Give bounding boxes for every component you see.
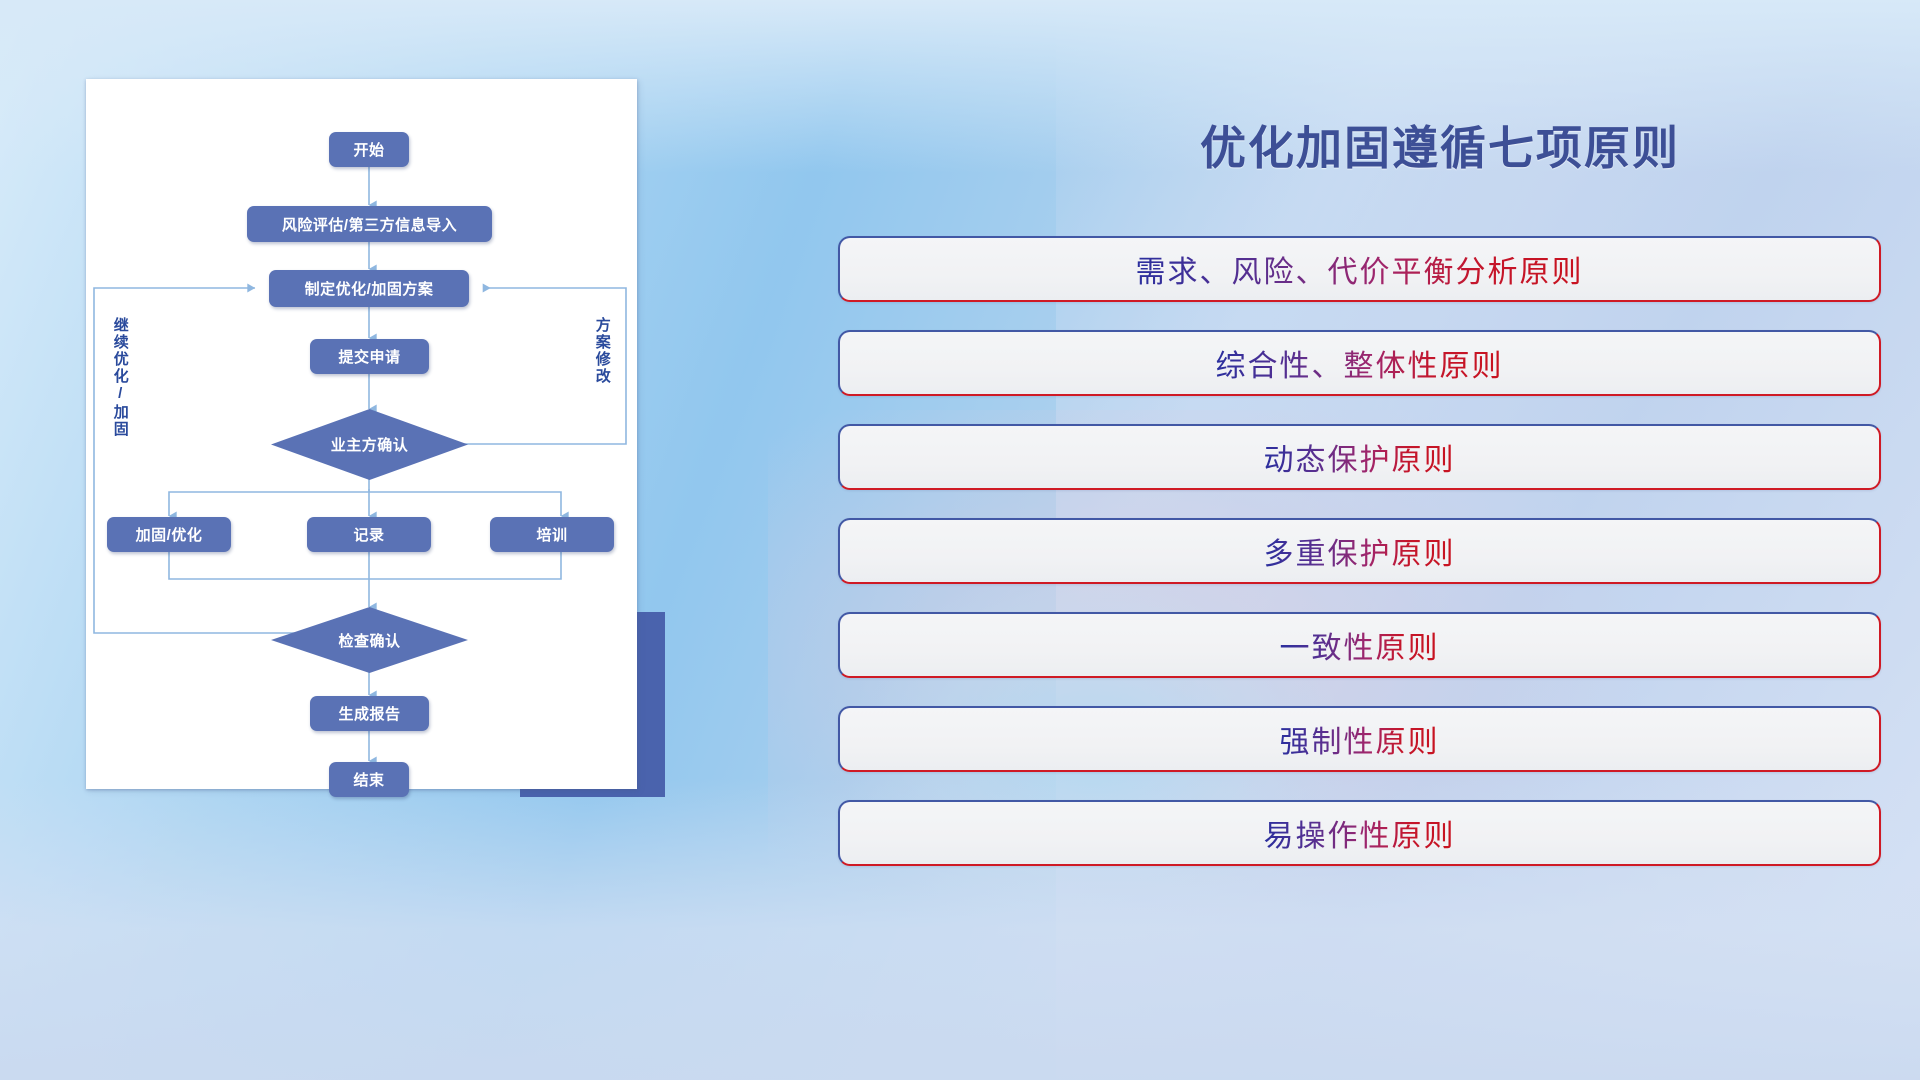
flow-node-make-plan[interactable]: 制定优化/加固方案 <box>269 270 469 307</box>
flow-node-record[interactable]: 记录 <box>307 517 431 552</box>
flow-node-risk-assessment[interactable]: 风险评估/第三方信息导入 <box>247 206 492 242</box>
flow-node-submit-application[interactable]: 提交申请 <box>310 339 429 374</box>
principles-panel: 优化加固遵循七项原则 需求、风险、代价平衡分析原则 综合性、整体性原则 动态保护… <box>1000 60 1880 1020</box>
principle-card-3[interactable]: 动态保护原则 <box>838 424 1881 490</box>
principles-list: 需求、风险、代价平衡分析原则 综合性、整体性原则 动态保护原则 多重保护原则 一… <box>838 236 1881 894</box>
flow-node-owner-confirm[interactable]: 业主方确认 <box>271 409 468 480</box>
principle-card-4[interactable]: 多重保护原则 <box>838 518 1881 584</box>
principle-card-6[interactable]: 强制性原则 <box>838 706 1881 772</box>
flow-node-training[interactable]: 培训 <box>490 517 614 552</box>
flow-node-inspection-confirm[interactable]: 检查确认 <box>271 607 468 673</box>
principle-label: 一致性原则 <box>1280 623 1440 667</box>
flow-node-start[interactable]: 开始 <box>329 132 409 167</box>
principle-label: 需求、风险、代价平衡分析原则 <box>1136 247 1584 291</box>
edge-label-plan-revision: 方案修改 <box>594 317 610 385</box>
principle-card-1[interactable]: 需求、风险、代价平衡分析原则 <box>838 236 1881 302</box>
flowchart-card: 开始 风险评估/第三方信息导入 制定优化/加固方案 提交申请 业主方确认 加固/… <box>86 79 637 789</box>
principle-card-2[interactable]: 综合性、整体性原则 <box>838 330 1881 396</box>
principle-label: 易操作性原则 <box>1264 811 1456 855</box>
edge-label-continue-optimize: 继续优化/加固 <box>112 317 128 438</box>
flow-node-reinforce-optimize[interactable]: 加固/优化 <box>107 517 231 552</box>
diamond-shape <box>271 409 468 480</box>
principle-label: 综合性、整体性原则 <box>1216 341 1504 385</box>
diamond-shape <box>271 607 468 673</box>
principle-label: 多重保护原则 <box>1264 529 1456 573</box>
page-title: 优化加固遵循七项原则 <box>1000 112 1880 178</box>
principle-card-7[interactable]: 易操作性原则 <box>838 800 1881 866</box>
principle-card-5[interactable]: 一致性原则 <box>838 612 1881 678</box>
flow-node-end[interactable]: 结束 <box>329 762 409 797</box>
principle-label: 动态保护原则 <box>1264 435 1456 479</box>
principle-label: 强制性原则 <box>1280 717 1440 761</box>
flow-node-generate-report[interactable]: 生成报告 <box>310 696 429 731</box>
